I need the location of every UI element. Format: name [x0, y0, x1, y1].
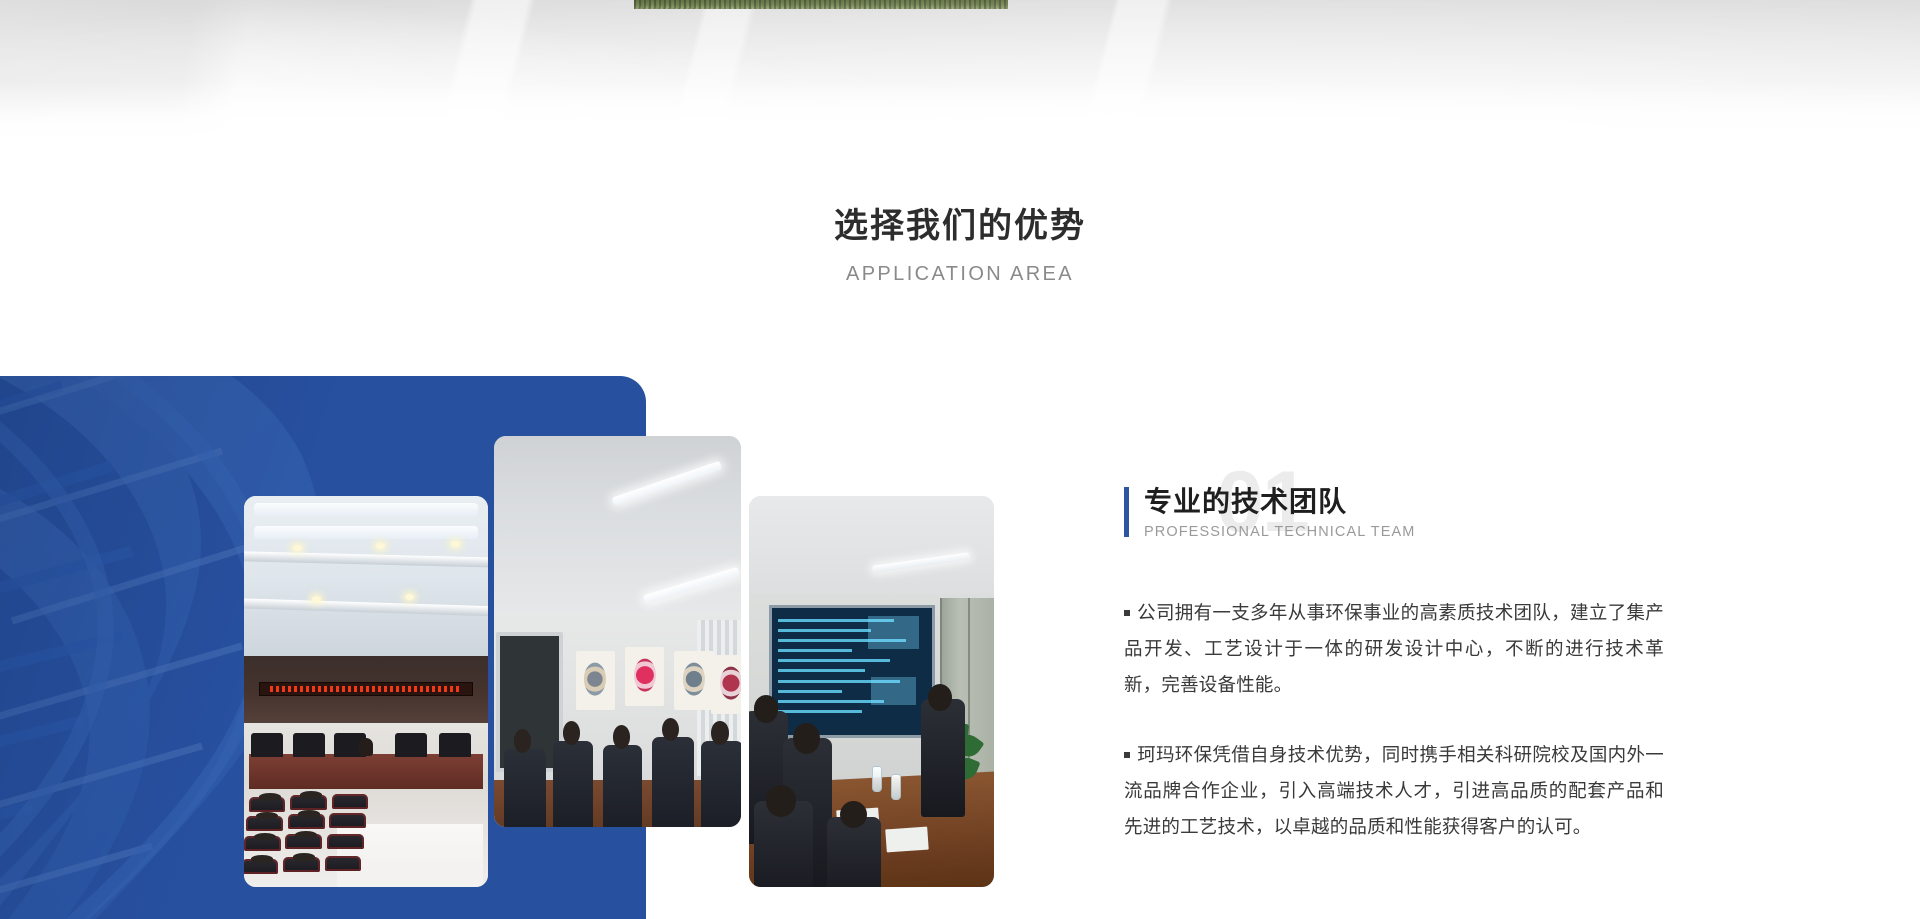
- wall-poster: [625, 647, 665, 706]
- bullet-square-icon: [1124, 610, 1130, 616]
- section-title: 选择我们的优势: [0, 205, 1920, 248]
- accent-bar: [1124, 487, 1129, 537]
- attendee-figure: [652, 737, 694, 827]
- ceiling-spotlight: [376, 543, 385, 549]
- advantage-copy-block: 01 专业的技术团队 PROFESSIONAL TECHNICAL TEAM 公…: [1124, 485, 1664, 845]
- ceiling-light-panel: [254, 526, 478, 539]
- section-header: 选择我们的优势 APPLICATION AREA: [0, 205, 1920, 286]
- led-banner: [259, 682, 474, 696]
- attendee-head: [711, 721, 728, 744]
- water-bottle: [872, 766, 882, 792]
- attendee-head: [613, 725, 630, 748]
- ceiling-spotlight: [405, 594, 414, 600]
- auditorium-ceiling: [244, 496, 488, 660]
- audience-head: [295, 831, 317, 839]
- banner-bottom-fade: [0, 82, 1920, 140]
- ceiling-light-panel: [254, 503, 478, 516]
- audience-head: [254, 833, 276, 841]
- ceiling-spotlight: [293, 545, 302, 551]
- attendee-figure: [553, 741, 593, 827]
- attendee-head: [662, 718, 679, 741]
- screen-text-line: [778, 649, 852, 652]
- audience-head: [298, 810, 320, 818]
- audience-seat: [329, 813, 366, 828]
- meeting-room-ceiling: [494, 436, 741, 616]
- audience-head: [293, 853, 315, 861]
- photo-projector-meeting: [749, 496, 994, 887]
- audience-head: [256, 812, 278, 820]
- stage-chair: [251, 733, 283, 757]
- ceiling-spotlight: [312, 596, 321, 602]
- advantage-paragraph-1-text: 公司拥有一支多年从事环保事业的高素质技术团队，建立了集产品开发、工艺设计于一体的…: [1124, 602, 1664, 695]
- advantage-paragraph-2: 珂玛环保凭借自身技术优势，同时携手相关科研院校及国内外一流品牌合作企业，引入高端…: [1124, 737, 1664, 845]
- attendee-head: [766, 785, 795, 816]
- photo-auditorium: [244, 496, 488, 887]
- bullet-square-icon: [1124, 752, 1130, 758]
- audience-head: [300, 791, 322, 799]
- photo-meeting-room: [494, 436, 741, 827]
- screen-text-line: [778, 690, 842, 693]
- audience-head: [259, 793, 281, 801]
- attendee-head: [793, 723, 820, 754]
- screen-text-line: [778, 710, 862, 713]
- screen-panel: [868, 616, 919, 649]
- poster-graphic: [720, 667, 741, 700]
- advantage-title: 专业的技术团队: [1144, 485, 1664, 519]
- attendee-head: [754, 695, 779, 722]
- advantage-paragraph-2-text: 珂玛环保凭借自身技术优势，同时携手相关科研院校及国内外一流品牌合作企业，引入高端…: [1124, 744, 1664, 837]
- audience-seating: [244, 793, 488, 887]
- audience-seat: [327, 834, 364, 849]
- poster-graphic: [683, 663, 705, 696]
- poster-graphic: [634, 659, 656, 692]
- screen-text-line: [778, 669, 865, 672]
- audience-head: [251, 855, 273, 863]
- audience-seat: [332, 794, 369, 809]
- advantage-heading: 01 专业的技术团队 PROFESSIONAL TECHNICAL TEAM: [1124, 485, 1664, 551]
- stage-chair: [293, 733, 325, 757]
- screen-panel: [871, 677, 916, 705]
- attendee-figure: [504, 749, 546, 827]
- wall-poster: [576, 651, 616, 710]
- stage-chair: [439, 733, 471, 757]
- attendee-figure: [921, 699, 965, 816]
- screen-text-line: [778, 629, 871, 632]
- attendee-head: [514, 729, 531, 752]
- hero-banner: [0, 0, 1920, 140]
- projector-screen: [769, 605, 936, 738]
- attendee-head: [840, 801, 867, 828]
- water-bottle: [891, 774, 901, 800]
- poster-graphic: [584, 663, 606, 696]
- advantage-subtitle: PROFESSIONAL TECHNICAL TEAM: [1144, 524, 1664, 541]
- wall-poster: [711, 655, 741, 714]
- room-ceiling: [749, 496, 994, 598]
- attendee-figure: [603, 745, 643, 827]
- audience-seat: [325, 856, 362, 871]
- speaker-desk: [249, 754, 483, 789]
- screen-text-line: [778, 700, 884, 703]
- section-subtitle: APPLICATION AREA: [0, 262, 1920, 286]
- advantage-paragraph-1: 公司拥有一支多年从事环保事业的高素质技术团队，建立了集产品开发、工艺设计于一体的…: [1124, 595, 1664, 703]
- page-root: 选择我们的优势 APPLICATION AREA: [0, 0, 1920, 919]
- document-paper: [885, 827, 928, 853]
- wall-poster: [674, 651, 714, 710]
- stage-chair: [395, 733, 427, 757]
- speaker-person: [359, 738, 373, 756]
- screen-text-line: [778, 659, 890, 662]
- attendee-figure: [701, 741, 741, 827]
